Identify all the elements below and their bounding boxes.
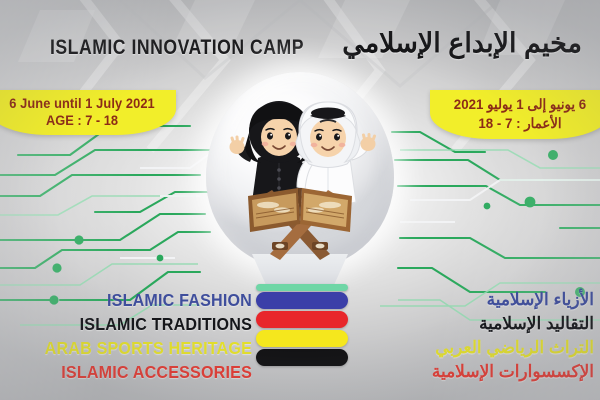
page-title-english: ISLAMIC INNOVATION CAMP	[50, 36, 304, 60]
topic-arabic-0: الأزياء الإسلامية	[342, 288, 594, 312]
color-pill-stack	[256, 284, 348, 368]
date-banner-english-dates: 6 June until 1 July 2021	[0, 96, 171, 111]
yellow-pill	[256, 330, 348, 347]
topic-english-3: ISLAMIC ACCESSORIES	[20, 360, 252, 384]
green-accent-pill	[256, 284, 348, 291]
topic-list-arabic: الأزياء الإسلامية التقاليد الإسلامية الت…	[342, 288, 594, 384]
date-banner-english: 6 June until 1 July 2021 AGE : 7 - 18	[0, 90, 176, 135]
date-banner-arabic: 6 يونيو إلى 1 يوليو 2021 الأعمار : 7 - 1…	[430, 90, 600, 139]
blue-pill	[256, 292, 348, 309]
page-title-arabic: مخيم الإبداع الإسلامي	[342, 27, 582, 61]
topic-english-2: ARAB SPORTS HERITAGE	[20, 336, 252, 360]
topic-english-1: ISLAMIC TRADITIONS	[20, 312, 252, 336]
topic-arabic-2: التراث الرياضي العربي	[342, 336, 594, 360]
date-banner-english-age: AGE : 7 - 18	[0, 113, 171, 128]
date-banner-arabic-dates: 6 يونيو إلى 1 يوليو 2021	[435, 96, 600, 113]
date-banner-arabic-age: الأعمار : 7 - 18	[435, 115, 600, 132]
topic-english-0: ISLAMIC FASHION	[20, 288, 252, 312]
topic-arabic-1: التقاليد الإسلامية	[342, 312, 594, 336]
light-bulb-illustration	[206, 72, 394, 312]
topic-list-english: ISLAMIC FASHION ISLAMIC TRADITIONS ARAB …	[0, 288, 258, 384]
quran-on-rehal-icon	[238, 180, 362, 264]
black-pill	[256, 349, 348, 366]
topic-arabic-3: الإكسسوارات الإسلامية	[342, 360, 594, 384]
poster-canvas: ISLAMIC INNOVATION CAMP مخيم الإبداع الإ…	[0, 0, 600, 400]
red-pill	[256, 311, 348, 328]
